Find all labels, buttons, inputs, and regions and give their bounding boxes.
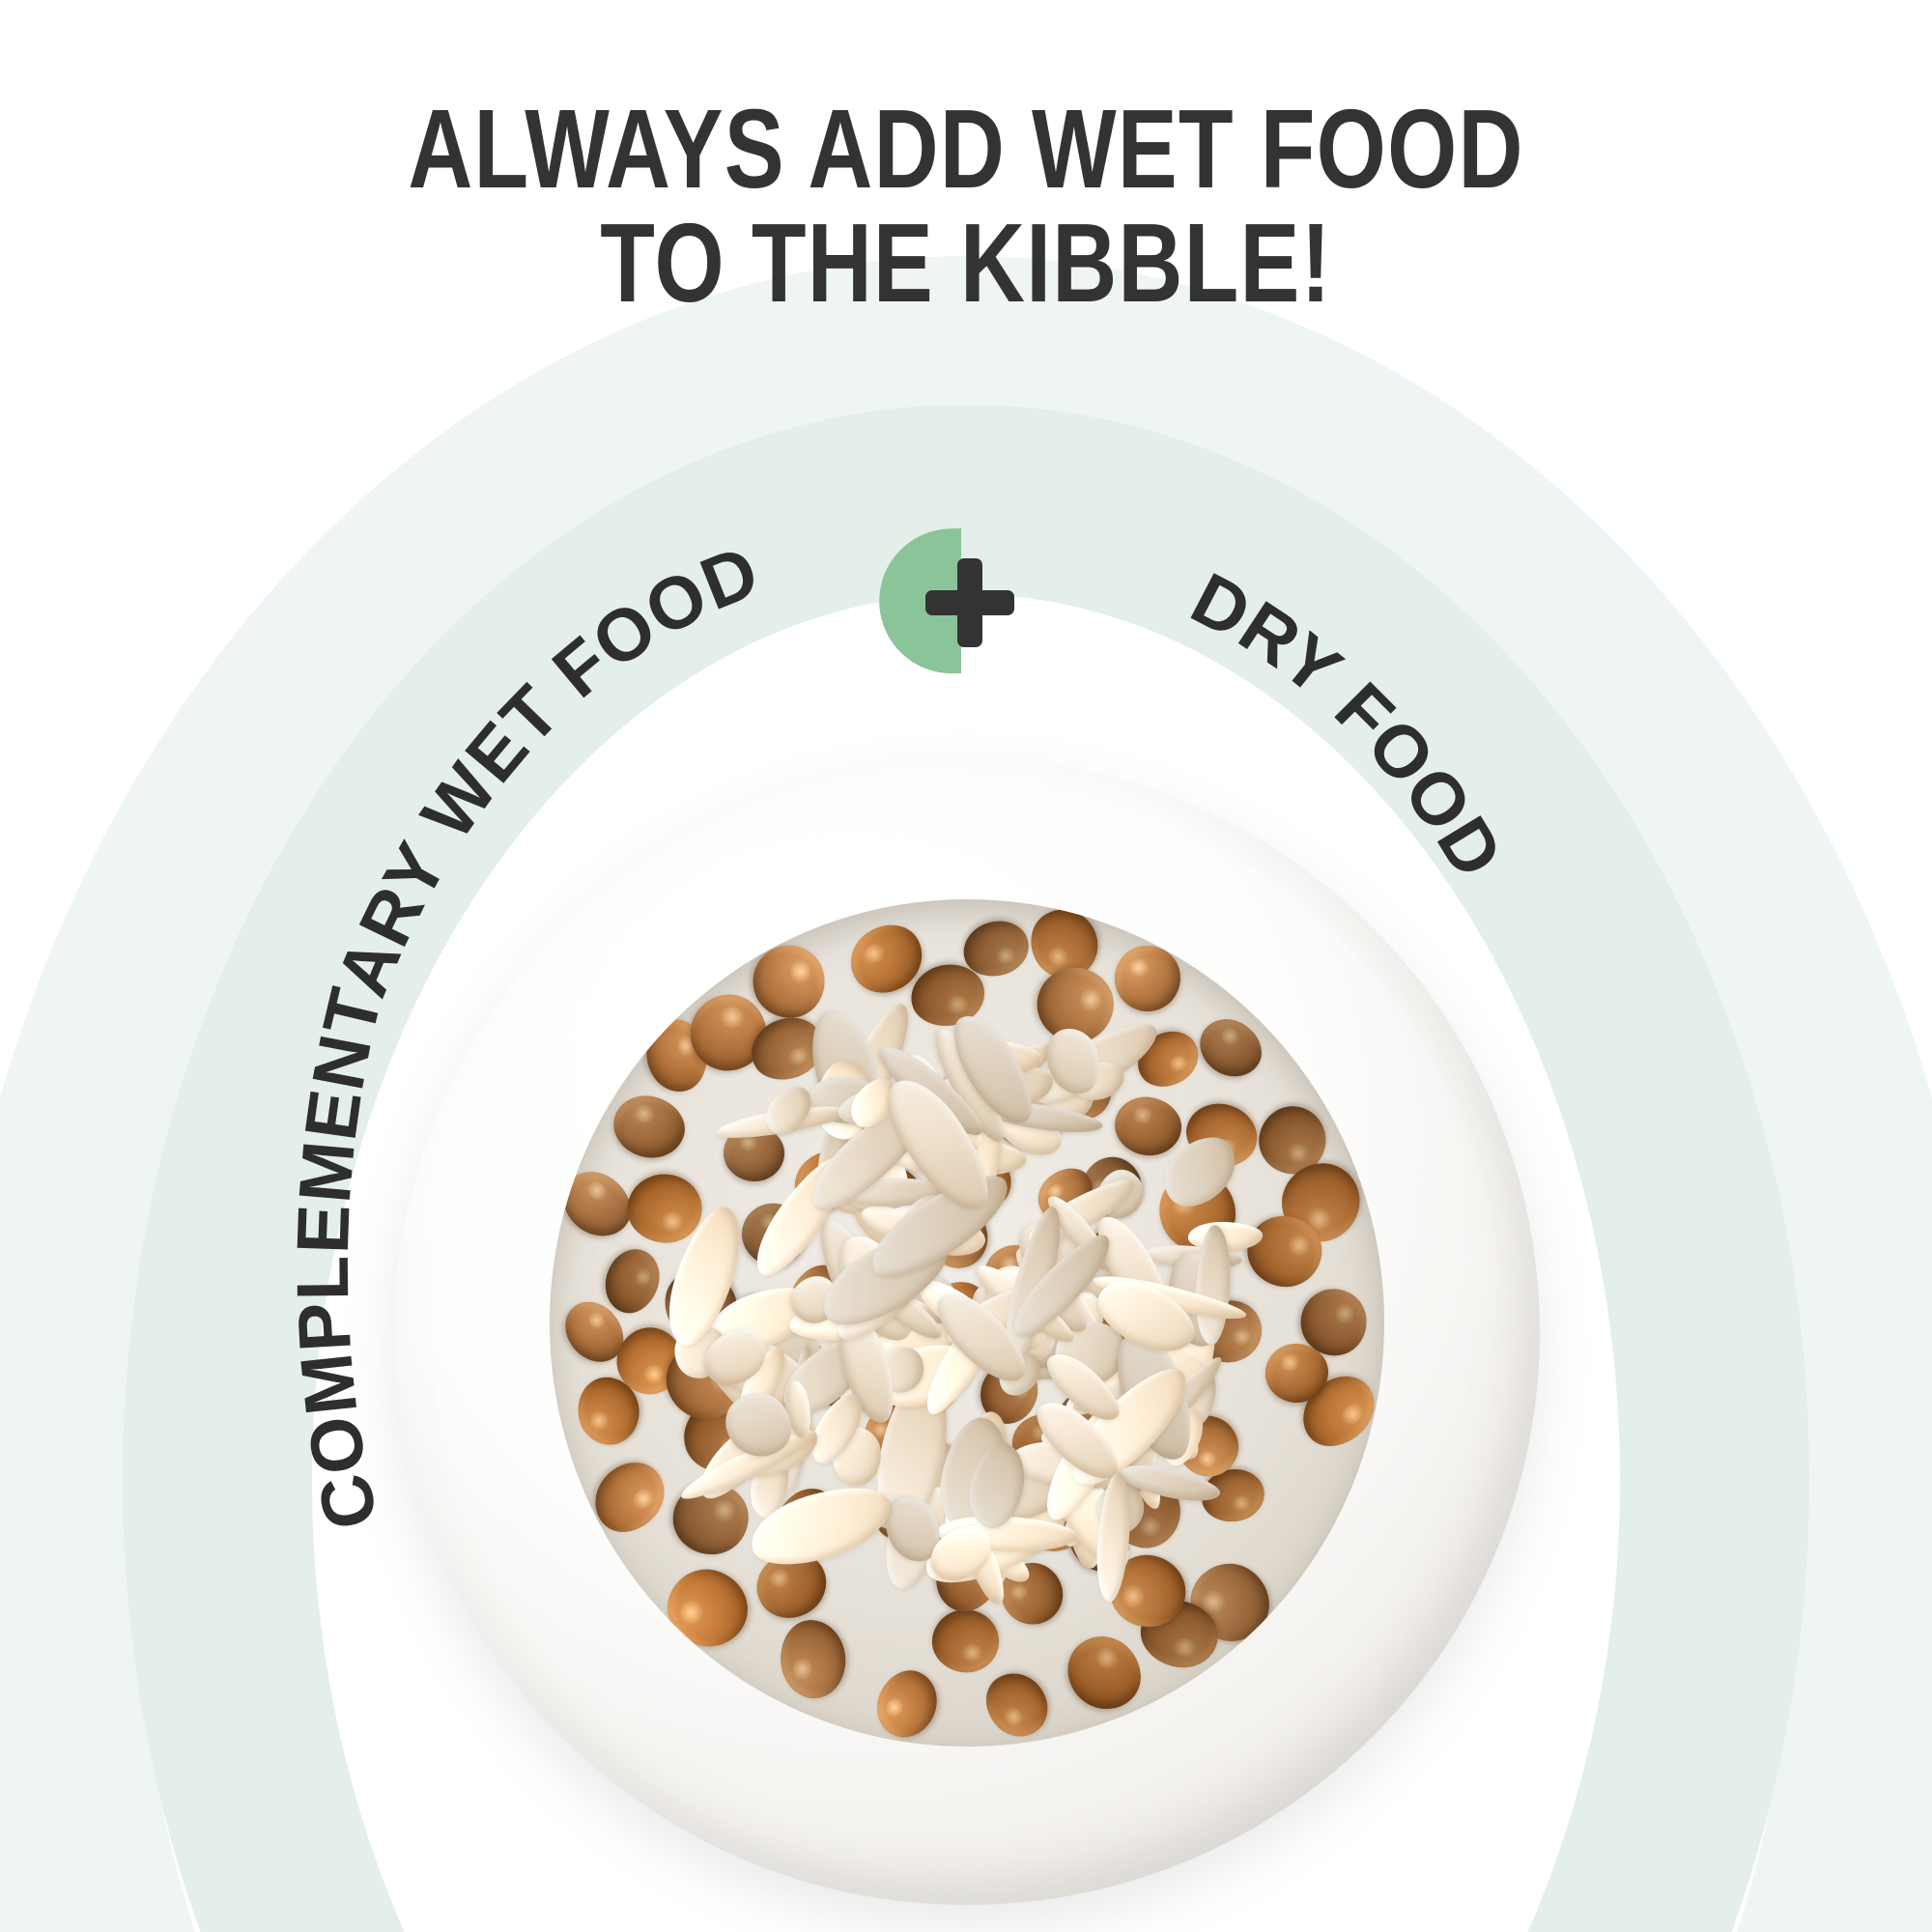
page-title: ALWAYS ADD WET FOOD TO THE KIBBLE!: [0, 92, 1932, 321]
bowl-interior: [550, 899, 1383, 1747]
kibble-piece: [975, 1662, 1061, 1747]
kibble-piece: [778, 1617, 849, 1701]
kibble-piece: [581, 1448, 677, 1546]
title-line-1: ALWAYS ADD WET FOOD: [193, 92, 1739, 206]
kibble-piece: [1111, 941, 1184, 1014]
pet-food-bowl: [394, 759, 1540, 1905]
kibble-piece: [867, 1662, 947, 1746]
title-line-2: TO THE KIBBLE!: [193, 206, 1739, 320]
infographic-canvas: ALWAYS ADD WET FOOD TO THE KIBBLE!: [0, 0, 1932, 1932]
plus-icon: [925, 558, 1014, 647]
kibble-piece: [930, 1607, 1001, 1675]
